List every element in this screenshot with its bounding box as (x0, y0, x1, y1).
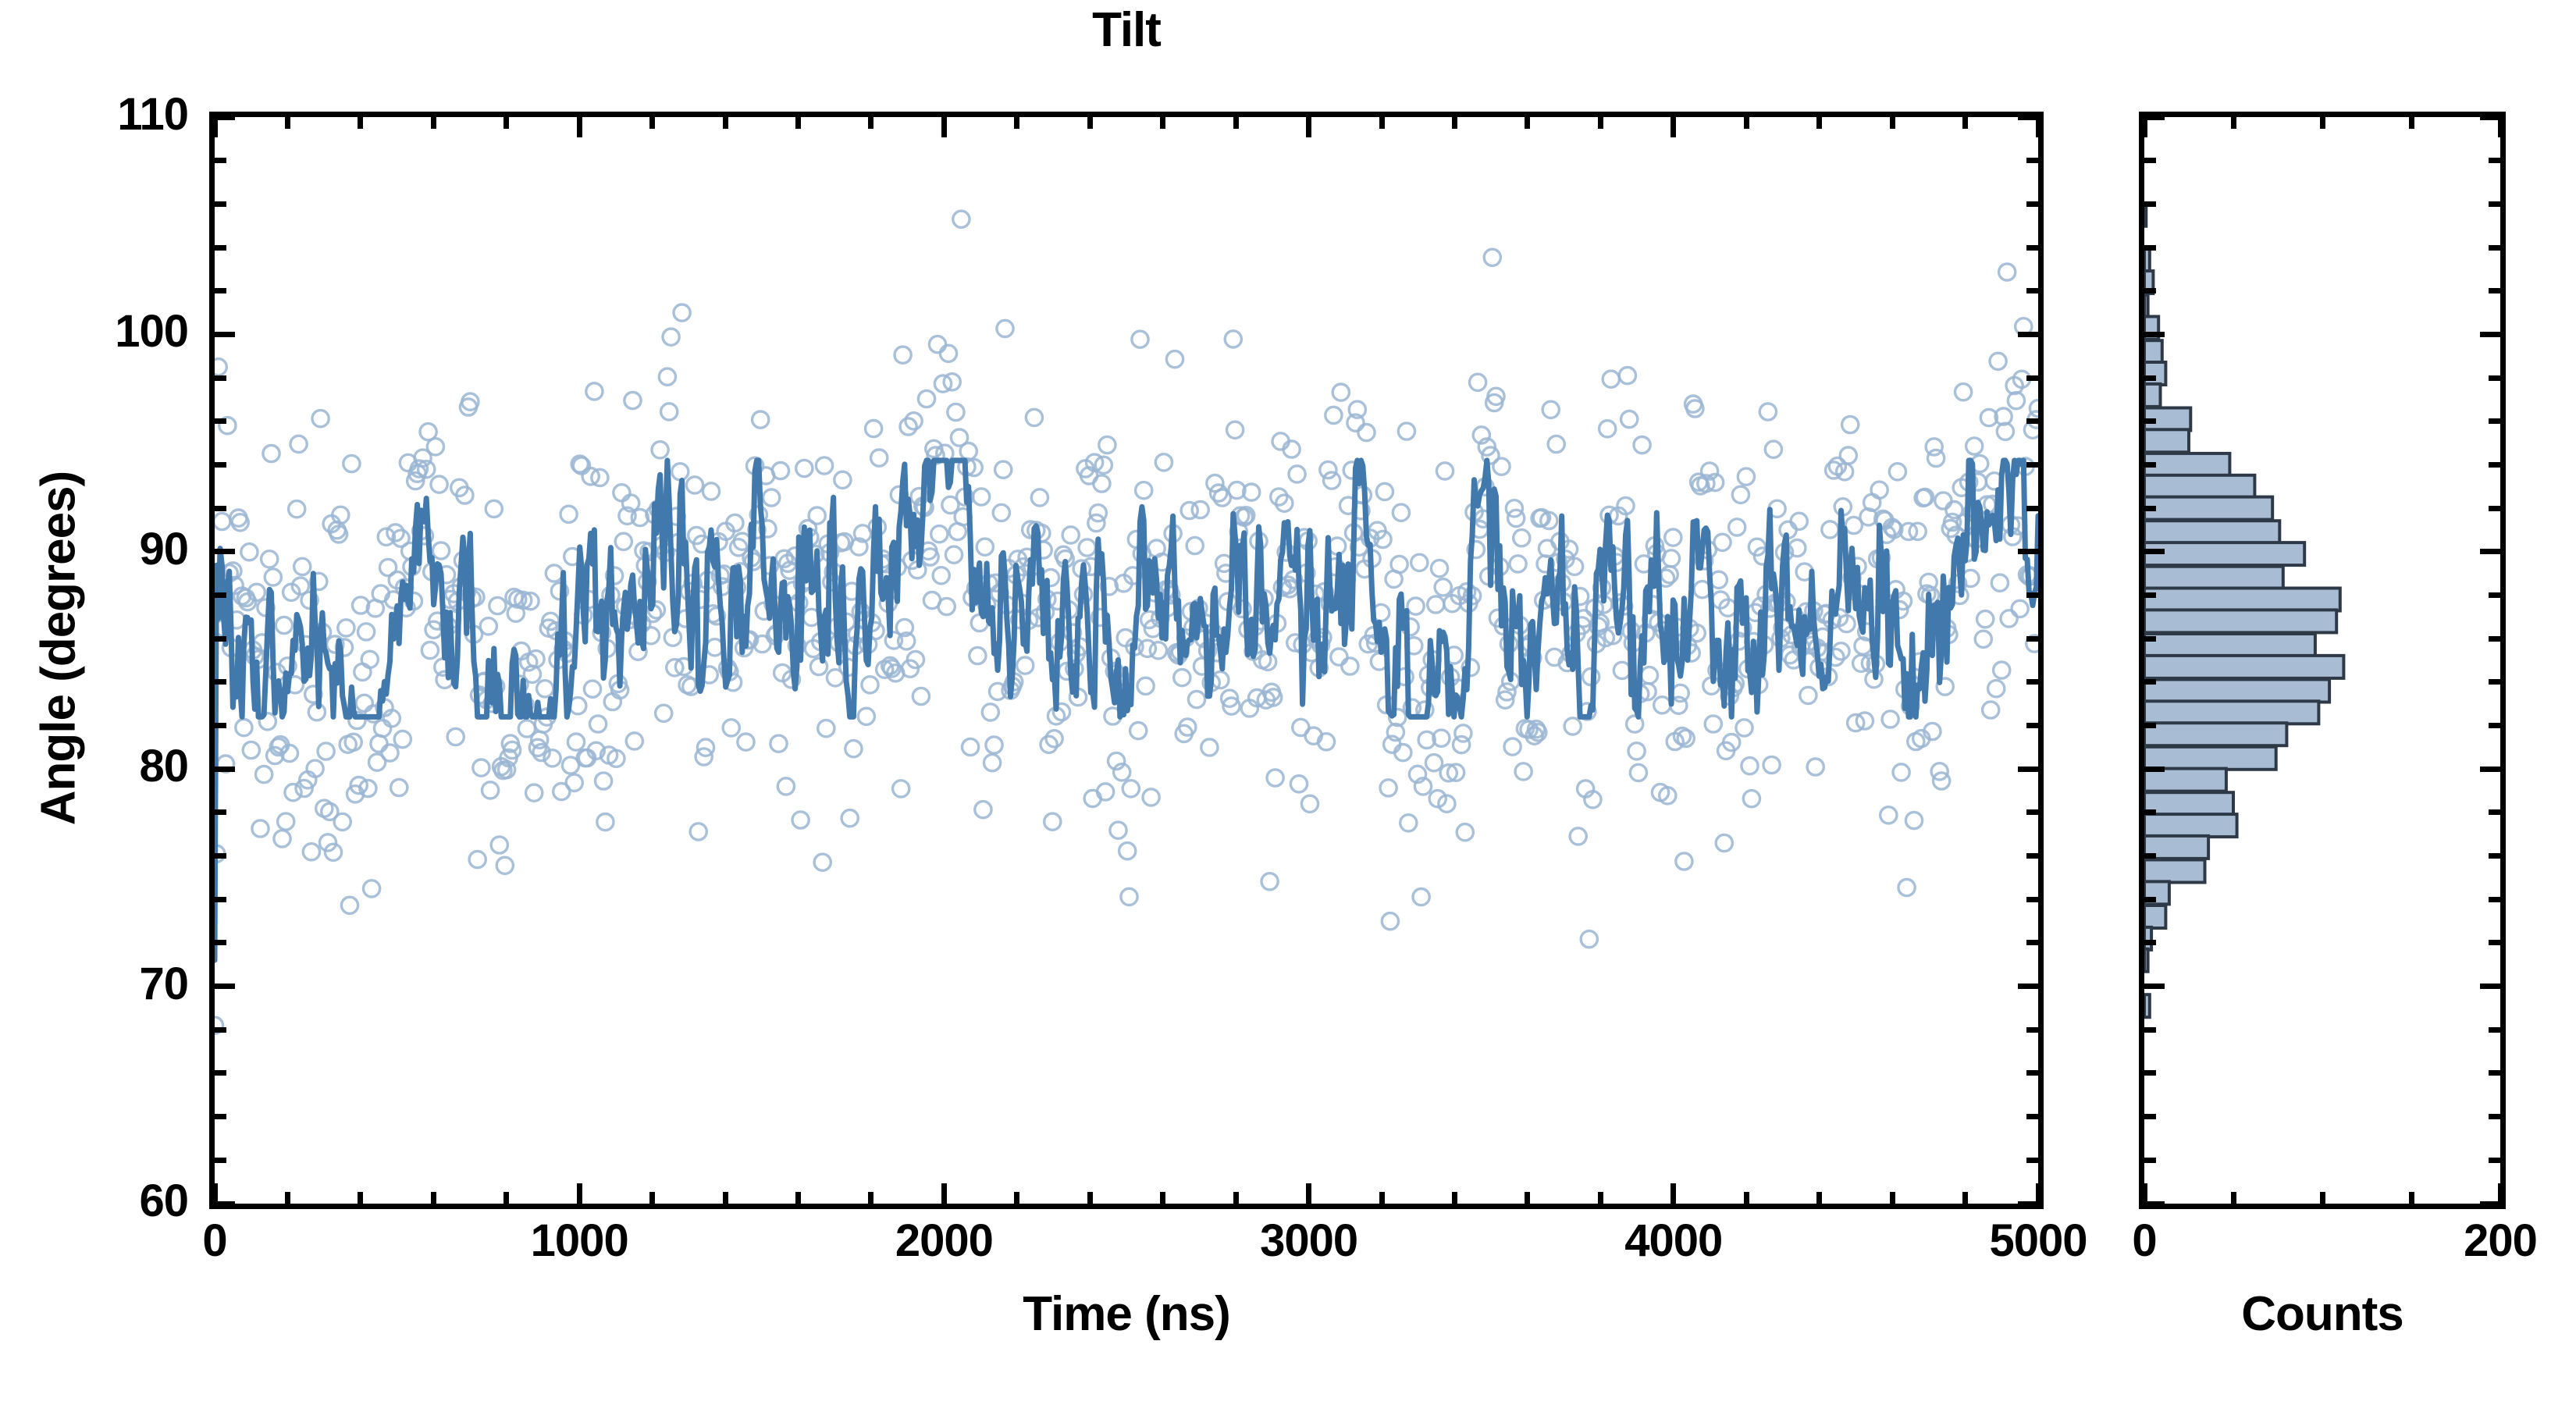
y-tick-right-84 (2026, 679, 2038, 685)
y-tick-right-74 (2026, 897, 2038, 902)
hist-y-tick-right-86 (2489, 636, 2500, 642)
hist-x-tick-top-0 (2142, 117, 2147, 137)
x-tick-label-0: 0 (74, 1218, 355, 1264)
y-tick-right-96 (2026, 418, 2038, 424)
x-tick-bottom-3000 (1306, 1183, 1311, 1204)
x-tick-bottom-2200 (1014, 1192, 1019, 1204)
hist-x-tick-top-150 (2409, 117, 2414, 129)
hist-y-tick-right-94 (2489, 462, 2500, 468)
hist-y-tick-left-92 (2144, 506, 2156, 511)
y-tick-left-94 (215, 462, 226, 468)
hist-x-tick-top-50 (2231, 117, 2236, 129)
hist-y-tick-left-100 (2144, 332, 2165, 337)
x-tick-bottom-3400 (1452, 1192, 1457, 1204)
hist-y-tick-right-64 (2489, 1114, 2500, 1119)
x-tick-bottom-5000 (2036, 1183, 2041, 1204)
hist-y-tick-left-66 (2144, 1070, 2156, 1076)
x-tick-top-600 (431, 117, 436, 129)
hist-y-tick-right-62 (2489, 1158, 2500, 1163)
x-tick-bottom-3600 (1525, 1192, 1530, 1204)
x-tick-top-3000 (1306, 117, 1311, 137)
y-tick-label-100: 100 (10, 309, 188, 354)
y-tick-right-82 (2026, 723, 2038, 728)
hist-x-tick-bottom-100 (2320, 1192, 2325, 1204)
y-tick-left-82 (215, 723, 226, 728)
hist-y-tick-right-96 (2489, 418, 2500, 424)
hist-y-tick-left-70 (2144, 983, 2165, 989)
hist-y-tick-left-106 (2144, 201, 2156, 207)
hist-y-tick-right-70 (2480, 983, 2500, 989)
hist-y-tick-right-78 (2489, 809, 2500, 815)
hist-y-tick-left-62 (2144, 1158, 2156, 1163)
hist-y-tick-right-104 (2489, 245, 2500, 251)
y-tick-left-60 (215, 1201, 235, 1207)
hist-y-tick-left-96 (2144, 418, 2156, 424)
x-tick-bottom-4800 (1962, 1192, 1968, 1204)
hist-x-tick-bottom-150 (2409, 1192, 2414, 1204)
y-tick-left-108 (215, 158, 226, 163)
hist-y-tick-right-66 (2489, 1070, 2500, 1076)
hist-y-tick-right-108 (2489, 158, 2500, 163)
y-tick-left-66 (215, 1070, 226, 1076)
y-tick-right-94 (2026, 462, 2038, 468)
x-tick-bottom-2600 (1160, 1192, 1165, 1204)
y-tick-left-68 (215, 1027, 226, 1033)
x-tick-bottom-600 (431, 1192, 436, 1204)
x-tick-top-4400 (1816, 117, 1822, 129)
y-tick-left-96 (215, 418, 226, 424)
x-tick-bottom-3800 (1598, 1192, 1603, 1204)
y-tick-right-72 (2026, 940, 2038, 945)
y-tick-right-76 (2026, 853, 2038, 859)
hist-x-tick-top-200 (2498, 117, 2503, 137)
x-tick-top-2400 (1087, 117, 1093, 129)
hist-y-tick-right-68 (2489, 1027, 2500, 1033)
hist-y-tick-left-108 (2144, 158, 2156, 163)
y-tick-right-80 (2018, 767, 2038, 772)
hist-y-tick-right-72 (2489, 940, 2500, 945)
y-tick-right-62 (2026, 1158, 2038, 1163)
hist-y-tick-right-90 (2480, 549, 2500, 554)
y-tick-left-106 (215, 201, 226, 207)
hist-y-tick-right-80 (2480, 767, 2500, 772)
x-tick-top-3800 (1598, 117, 1603, 129)
y-tick-right-88 (2026, 592, 2038, 598)
hist-y-tick-left-98 (2144, 375, 2156, 381)
x-tick-bottom-4000 (1670, 1183, 1676, 1204)
hist-x-tick-bottom-0 (2142, 1183, 2147, 1204)
main-plot-panel (209, 112, 2044, 1209)
x-tick-top-5000 (2036, 117, 2041, 137)
x-tick-bottom-0 (212, 1183, 218, 1204)
x-tick-top-1600 (795, 117, 801, 129)
hist-x-tick-label-200: 200 (2360, 1218, 2576, 1264)
hist-y-tick-right-100 (2480, 332, 2500, 337)
y-tick-right-78 (2026, 809, 2038, 815)
x-tick-bottom-1600 (795, 1192, 801, 1204)
x-tick-label-2000: 2000 (803, 1218, 1084, 1264)
y-tick-right-66 (2026, 1070, 2038, 1076)
hist-y-tick-left-60 (2144, 1201, 2165, 1207)
y-tick-label-90: 90 (10, 527, 188, 572)
y-tick-left-90 (215, 549, 235, 554)
y-tick-label-70: 70 (10, 962, 188, 1007)
y-axis-label: Angle (degrees) (31, 352, 87, 945)
y-tick-left-64 (215, 1114, 226, 1119)
x-tick-top-1000 (577, 117, 582, 137)
y-tick-right-64 (2026, 1114, 2038, 1119)
y-tick-left-84 (215, 679, 226, 685)
x-tick-top-1200 (649, 117, 655, 129)
x-tick-bottom-400 (358, 1192, 363, 1204)
hist-y-tick-right-76 (2489, 853, 2500, 859)
x-tick-top-200 (285, 117, 290, 129)
hist-y-tick-left-86 (2144, 636, 2156, 642)
x-tick-top-4800 (1962, 117, 1968, 129)
x-tick-top-3600 (1525, 117, 1530, 129)
y-tick-right-90 (2018, 549, 2038, 554)
hist-y-tick-left-110 (2144, 115, 2165, 120)
x-tick-top-1400 (723, 117, 728, 129)
hist-x-tick-label-0: 0 (2004, 1218, 2285, 1264)
y-tick-left-80 (215, 767, 235, 772)
hist-y-tick-right-102 (2489, 288, 2500, 293)
y-tick-label-110: 110 (10, 92, 188, 137)
histogram-x-axis-label: Counts (2139, 1286, 2506, 1342)
hist-x-tick-top-100 (2320, 117, 2325, 129)
y-tick-left-100 (215, 332, 235, 337)
x-tick-label-3000: 3000 (1169, 1218, 1450, 1264)
x-tick-top-2800 (1233, 117, 1239, 129)
hist-y-tick-left-72 (2144, 940, 2156, 945)
x-tick-top-0 (212, 117, 218, 137)
y-tick-right-70 (2018, 983, 2038, 989)
x-tick-bottom-1400 (723, 1192, 728, 1204)
x-tick-bottom-3200 (1379, 1192, 1385, 1204)
y-tick-right-98 (2026, 375, 2038, 381)
x-tick-bottom-1800 (868, 1192, 873, 1204)
hist-y-tick-left-90 (2144, 549, 2165, 554)
x-tick-top-4200 (1744, 117, 1749, 129)
x-tick-bottom-2000 (941, 1183, 947, 1204)
hist-y-tick-left-94 (2144, 462, 2156, 468)
x-tick-bottom-1200 (649, 1192, 655, 1204)
y-tick-left-98 (215, 375, 226, 381)
hist-y-tick-left-78 (2144, 809, 2156, 815)
x-tick-top-2000 (941, 117, 947, 137)
x-tick-bottom-4600 (1890, 1192, 1895, 1204)
x-tick-bottom-1000 (577, 1183, 582, 1204)
y-tick-right-92 (2026, 506, 2038, 511)
y-tick-left-92 (215, 506, 226, 511)
hist-y-tick-left-68 (2144, 1027, 2156, 1033)
y-tick-right-86 (2026, 636, 2038, 642)
y-tick-right-108 (2026, 158, 2038, 163)
hist-y-tick-left-74 (2144, 897, 2156, 902)
hist-y-tick-right-84 (2489, 679, 2500, 685)
x-axis-label: Time (ns) (209, 1286, 2044, 1342)
y-tick-left-74 (215, 897, 226, 902)
y-tick-right-68 (2026, 1027, 2038, 1033)
x-tick-label-4000: 4000 (1533, 1218, 1814, 1264)
y-tick-left-70 (215, 983, 235, 989)
y-tick-left-78 (215, 809, 226, 815)
x-tick-top-2200 (1014, 117, 1019, 129)
y-tick-left-76 (215, 853, 226, 859)
x-tick-top-1800 (868, 117, 873, 129)
x-tick-bottom-200 (285, 1192, 290, 1204)
figure-title: Tilt (209, 6, 2044, 55)
x-tick-top-2600 (1160, 117, 1165, 129)
x-tick-bottom-4200 (1744, 1192, 1749, 1204)
hist-y-tick-right-92 (2489, 506, 2500, 511)
hist-y-tick-right-106 (2489, 201, 2500, 207)
y-tick-left-104 (215, 245, 226, 251)
x-tick-top-3400 (1452, 117, 1457, 129)
hist-x-tick-bottom-200 (2498, 1183, 2503, 1204)
hist-y-tick-left-102 (2144, 288, 2156, 293)
y-tick-left-110 (215, 115, 235, 120)
hist-y-tick-left-64 (2144, 1114, 2156, 1119)
hist-y-tick-left-84 (2144, 679, 2156, 685)
x-tick-bottom-800 (503, 1192, 509, 1204)
hist-y-tick-left-80 (2144, 767, 2165, 772)
hist-y-tick-left-76 (2144, 853, 2156, 859)
y-tick-left-88 (215, 592, 226, 598)
x-tick-top-400 (358, 117, 363, 129)
y-tick-label-80: 80 (10, 744, 188, 789)
x-tick-top-4000 (1670, 117, 1676, 137)
hist-y-tick-right-82 (2489, 723, 2500, 728)
histogram-panel (2139, 112, 2506, 1209)
x-tick-bottom-2400 (1087, 1192, 1093, 1204)
hist-y-tick-right-88 (2489, 592, 2500, 598)
y-tick-left-86 (215, 636, 226, 642)
y-tick-right-106 (2026, 201, 2038, 207)
figure-root: Tilt Angle (degrees) Time (ns) Counts 11… (0, 0, 2576, 1405)
y-tick-label-60: 60 (10, 1179, 188, 1224)
x-tick-top-4600 (1890, 117, 1895, 129)
hist-y-tick-left-82 (2144, 723, 2156, 728)
x-tick-label-1000: 1000 (439, 1218, 720, 1264)
x-tick-top-3200 (1379, 117, 1385, 129)
hist-y-tick-right-98 (2489, 375, 2500, 381)
hist-x-tick-bottom-50 (2231, 1192, 2236, 1204)
x-tick-bottom-2800 (1233, 1192, 1239, 1204)
y-tick-left-102 (215, 288, 226, 293)
y-tick-left-72 (215, 940, 226, 945)
hist-y-tick-left-88 (2144, 592, 2156, 598)
hist-y-tick-right-74 (2489, 897, 2500, 902)
y-tick-right-102 (2026, 288, 2038, 293)
x-tick-bottom-4400 (1816, 1192, 1822, 1204)
y-tick-right-104 (2026, 245, 2038, 251)
x-tick-top-800 (503, 117, 509, 129)
hist-y-tick-left-104 (2144, 245, 2156, 251)
y-tick-left-62 (215, 1158, 226, 1163)
y-tick-right-100 (2018, 332, 2038, 337)
